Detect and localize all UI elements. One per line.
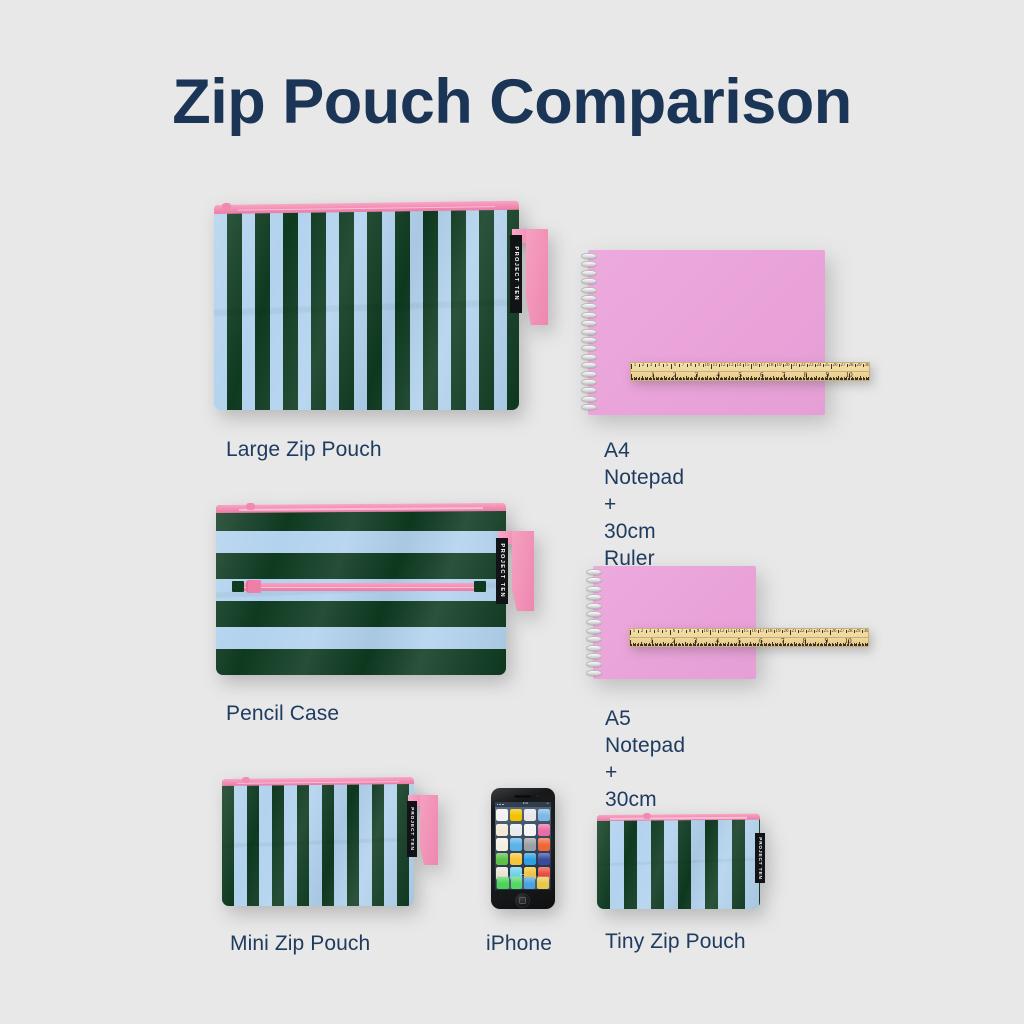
ruler-label-inch: 6 [759, 637, 763, 645]
pouch-body [222, 779, 414, 906]
ruler-tick-cm [686, 630, 687, 633]
ruler-label-cm: 7 [682, 363, 685, 368]
signal-dots-icon [497, 804, 504, 805]
ruler-label-inch: 2 [673, 371, 677, 379]
caption-large-zip-pouch: Large Zip Pouch [226, 437, 382, 464]
ruler-label-inch: 8 [803, 637, 807, 645]
phone-screen: 9:41 ▭ [495, 802, 551, 890]
spiral-coil [586, 645, 602, 651]
ruler-label-cm: 23 [809, 363, 814, 368]
ruler-label-cm: 5 [665, 629, 668, 634]
ruler-label-cm: 6 [674, 363, 677, 368]
caption-tiny-zip-pouch: Tiny Zip Pouch [605, 929, 746, 956]
ruler-label-cm: 3 [649, 629, 652, 634]
ruler-label-cm: 14 [736, 629, 741, 634]
dock-app-icon[interactable] [537, 877, 549, 889]
ruler-label-cm: 15 [745, 363, 750, 368]
app-icon[interactable] [524, 824, 536, 836]
zipper-slider[interactable] [643, 813, 651, 819]
ruler-label-cm: 16 [753, 363, 758, 368]
spiral-coil [586, 670, 602, 676]
ruler-label-cm: 9 [697, 629, 700, 634]
app-icon[interactable] [510, 838, 522, 850]
ruler-tick-cm [646, 630, 647, 633]
ruler-label-cm: 29 [856, 629, 861, 634]
ruler-label-cm: 15 [744, 629, 749, 634]
ruler-label-inch: 2 [672, 637, 676, 645]
app-icon[interactable] [510, 809, 522, 821]
ruler-label-cm: 11 [712, 629, 717, 634]
spiral-coil [586, 636, 602, 642]
spiral-coil [586, 619, 602, 625]
ruler-label-cm: 26 [832, 629, 837, 634]
ruler-label-cm: 24 [816, 629, 821, 634]
large-zip-pouch-image: PROJECT TEN [214, 205, 519, 410]
status-bar-time: 9:41 [523, 803, 528, 806]
ruler-label-cm: 8 [690, 363, 693, 368]
product-large-zip-pouch: PROJECT TEN Large Zip Pouch [214, 205, 519, 410]
brand-tag: PROJECT TEN [510, 235, 522, 313]
ruler-label-inch: 10 [846, 371, 853, 379]
caption-iphone: iPhone [486, 931, 552, 958]
ruler-tick-cm [655, 364, 656, 367]
caption-pencil-case: Pencil Case [226, 701, 339, 728]
brand-tag-text: PROJECT TEN [757, 837, 763, 880]
ruler-tick-cm [631, 364, 632, 369]
ruler-tick-cm [687, 364, 688, 367]
ruler-label-inch: 3 [695, 371, 699, 379]
ruler-label-cm: 23 [808, 629, 813, 634]
ruler-label-cm: 2 [642, 363, 645, 368]
app-icon[interactable] [510, 824, 522, 836]
zipper-slider[interactable] [222, 203, 231, 210]
app-icon[interactable] [496, 809, 508, 821]
spiral-coil [586, 611, 602, 617]
ruler-label-cm: 1 [633, 629, 636, 634]
pull-tab-fold[interactable] [526, 229, 548, 325]
ruler-label-inch: 7 [781, 637, 785, 645]
comparison-poster: Zip Pouch Comparison PROJECT TEN Large Z… [0, 0, 1024, 1024]
front-camera-icon [536, 795, 539, 798]
mini-zip-pouch-image: PROJECT TEN [222, 779, 414, 906]
zipper-end-stop-right [474, 581, 486, 592]
ruler-label-cm: 30 [865, 363, 870, 368]
spiral-coil [581, 312, 597, 318]
app-icon[interactable] [496, 853, 508, 865]
ruler-label-cm: 5 [666, 363, 669, 368]
product-mini-zip-pouch: PROJECT TEN Mini Zip Pouch [222, 779, 414, 906]
ruler-label-cm: 10 [704, 629, 709, 634]
ruler-label-inch: 8 [804, 371, 808, 379]
ruler-label-cm: 18 [768, 629, 773, 634]
pencil-case-image: PROJECT TEN [216, 505, 506, 675]
ruler-label-inch: 1 [651, 371, 655, 379]
ruler-label-cm: 22 [800, 629, 805, 634]
caption-a4-notepad-ruler: A4 Notepad + 30cm Ruler [604, 438, 684, 572]
spiral-coil [581, 396, 597, 402]
ruler-tick-cm [654, 630, 655, 633]
spiral-coil [586, 594, 602, 600]
a5-notepad-image [593, 566, 756, 679]
ruler-label-cm: 3 [650, 363, 653, 368]
ruler-label-inch: 3 [694, 637, 698, 645]
brand-tag-text: PROJECT TEN [513, 247, 519, 302]
spiral-coil [586, 603, 602, 609]
caption-mini-zip-pouch: Mini Zip Pouch [230, 931, 370, 958]
spiral-coil [586, 569, 602, 575]
ruler-tick-cm [630, 630, 631, 635]
product-pencil-case: PROJECT TEN Pencil Case [216, 505, 506, 675]
ruler-label-cm: 11 [713, 363, 718, 368]
ruler-label-cm: 9 [698, 363, 701, 368]
app-icon[interactable] [496, 824, 508, 836]
ruler-label-inch: 9 [826, 371, 830, 379]
ruler-label-cm: 6 [673, 629, 676, 634]
app-icon[interactable] [524, 853, 536, 865]
pull-tab-fold[interactable] [512, 531, 534, 611]
ruler-label-cm: 19 [776, 629, 781, 634]
ruler-label-cm: 18 [769, 363, 774, 368]
spiral-binding [581, 250, 597, 415]
ruler-label-cm: 28 [849, 363, 854, 368]
ruler-label-cm: 25 [824, 629, 829, 634]
spiral-coil [581, 278, 597, 284]
ruler-tick-cm [639, 364, 640, 367]
spiral-coil [581, 362, 597, 368]
ruler-label-inch: 6 [760, 371, 764, 379]
zipper-slider[interactable] [242, 777, 250, 783]
ruler-tick-cm [663, 364, 664, 367]
ruler-label-cm: 17 [760, 629, 765, 634]
ruler-tick-cm [670, 630, 671, 635]
ruler-30cm-a4: 1234567891011121314151617181920212223242… [630, 362, 870, 381]
spiral-coil [581, 261, 597, 267]
spiral-coil [586, 577, 602, 583]
dock-app-icon[interactable] [524, 877, 536, 889]
ruler-tick-cm [662, 630, 663, 633]
ruler-label-cm: 29 [857, 363, 862, 368]
ruler-label-cm: 19 [777, 363, 782, 368]
ruler-label-cm: 22 [801, 363, 806, 368]
ruler-label-cm: 4 [658, 363, 661, 368]
pouch-body [597, 815, 760, 909]
ruler-label-inch: 5 [737, 637, 741, 645]
brand-tag-text: PROJECT TEN [499, 544, 505, 599]
ruler-label-cm: 30 [864, 629, 869, 634]
zipper-end-stop-left [232, 581, 244, 592]
ruler-label-cm: 27 [840, 629, 845, 634]
ruler-label-cm: 4 [657, 629, 660, 634]
spiral-coil [581, 379, 597, 385]
ruler-label-inch: 4 [717, 371, 721, 379]
a4-notepad-image [588, 250, 825, 415]
ruler-label-cm: 2 [641, 629, 644, 634]
product-tiny-zip-pouch: PROJECT TEN Tiny Zip Pouch [597, 815, 760, 909]
ruler-30cm-a5: 1234567891011121314151617181920212223242… [629, 628, 869, 647]
pouch-body [214, 205, 519, 410]
status-bar: 9:41 ▭ [495, 802, 551, 807]
ruler-label-cm: 1 [634, 363, 637, 368]
brand-tag: PROJECT TEN [755, 833, 765, 883]
ruler-label-cm: 12 [720, 629, 725, 634]
spiral-coil [586, 586, 602, 592]
ruler-label-cm: 16 [752, 629, 757, 634]
ruler-tick-cm [679, 364, 680, 367]
ruler-label-inch: 9 [825, 637, 829, 645]
front-zipper[interactable] [234, 583, 484, 591]
ruler-label-cm: 8 [689, 629, 692, 634]
spiral-coil [586, 653, 602, 659]
ruler-midline [630, 637, 868, 638]
app-grid [496, 809, 550, 880]
stripe-pattern-vertical [597, 815, 760, 909]
tiny-zip-pouch-image: PROJECT TEN [597, 815, 760, 909]
spiral-coil [581, 295, 597, 301]
app-dock [496, 876, 550, 889]
ruler-tick-cm [678, 630, 679, 633]
page-indicator-dots [495, 874, 551, 875]
front-zipper-slider[interactable] [248, 580, 261, 593]
zipper-slider[interactable] [246, 503, 255, 510]
ruler-tick-cm [695, 364, 696, 367]
ruler-label-cm: 12 [721, 363, 726, 368]
spiral-coil [581, 404, 597, 410]
ruler-label-inch: 10 [845, 637, 852, 645]
app-icon[interactable] [524, 838, 536, 850]
ruler-tick-cm [647, 364, 648, 367]
spiral-binding [586, 566, 602, 679]
ruler-label-cm: 14 [737, 363, 742, 368]
ruler-label-cm: 13 [728, 629, 733, 634]
ruler-midline [631, 371, 869, 372]
brand-tag: PROJECT TEN [407, 801, 417, 857]
app-icon[interactable] [538, 838, 550, 850]
earpiece-speaker [514, 795, 532, 798]
spiral-coil [581, 320, 597, 326]
stripe-pattern-vertical [214, 205, 519, 410]
brand-tag: PROJECT TEN [496, 538, 508, 604]
spiral-coil [581, 303, 597, 309]
app-icon[interactable] [538, 853, 550, 865]
page-title: Zip Pouch Comparison [0, 66, 1024, 138]
app-icon[interactable] [510, 853, 522, 865]
spiral-coil [581, 253, 597, 259]
spiral-coil [586, 661, 602, 667]
spiral-coil [581, 387, 597, 393]
ruler-label-cm: 20 [784, 629, 789, 634]
ruler-label-cm: 26 [833, 363, 838, 368]
spiral-coil [581, 287, 597, 293]
stripe-pattern-vertical [222, 779, 414, 906]
ruler-label-cm: 10 [705, 363, 710, 368]
ruler-label-cm: 25 [825, 363, 830, 368]
spiral-coil [581, 270, 597, 276]
spiral-coil [581, 329, 597, 335]
app-icon[interactable] [538, 809, 550, 821]
ruler-label-cm: 21 [792, 629, 797, 634]
ruler-label-cm: 28 [848, 629, 853, 634]
ruler-label-cm: 24 [817, 363, 822, 368]
spiral-coil [586, 628, 602, 634]
ruler-label-inch: 7 [782, 371, 786, 379]
pull-tab-fold[interactable] [420, 795, 438, 865]
spiral-coil [581, 371, 597, 377]
spiral-coil [581, 354, 597, 360]
ruler-label-cm: 27 [841, 363, 846, 368]
dock-app-icon[interactable] [511, 877, 523, 889]
ruler-label-inch: 5 [738, 371, 742, 379]
ruler-label-cm: 21 [793, 363, 798, 368]
brand-tag-text: PROJECT TEN [409, 807, 415, 851]
ruler-label-cm: 7 [681, 629, 684, 634]
app-icon[interactable] [496, 838, 508, 850]
spiral-coil [581, 337, 597, 343]
dock-app-icon[interactable] [497, 877, 509, 889]
ruler-label-cm: 20 [785, 363, 790, 368]
ruler-tick-cm [671, 364, 672, 369]
iphone-image: 9:41 ▭ [491, 788, 555, 909]
ruler-label-inch: 4 [716, 637, 720, 645]
battery-icon: ▭ [547, 803, 549, 806]
ruler-label-cm: 17 [761, 363, 766, 368]
ruler-label-cm: 13 [729, 363, 734, 368]
ruler-label-inch: 1 [650, 637, 654, 645]
app-icon[interactable] [524, 809, 536, 821]
home-button[interactable] [515, 893, 530, 908]
ruler-tick-cm [638, 630, 639, 633]
home-button-square-icon [519, 897, 525, 903]
app-icon[interactable] [538, 824, 550, 836]
ruler-tick-cm [694, 630, 695, 633]
spiral-coil [581, 345, 597, 351]
